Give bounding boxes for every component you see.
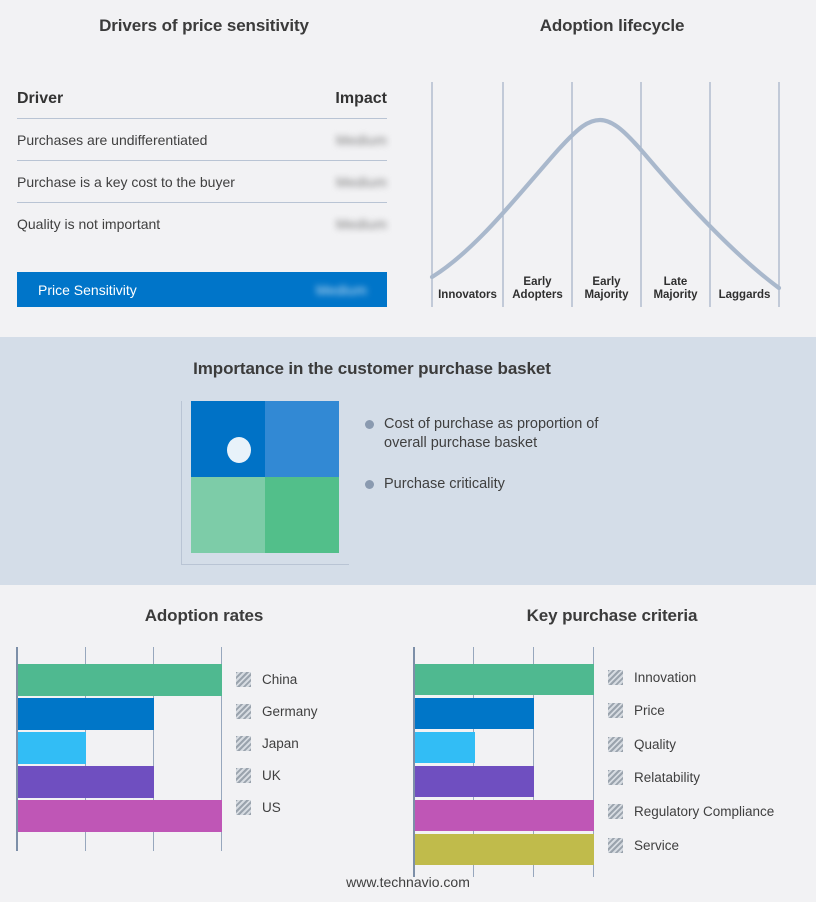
swatch-icon [236,800,251,815]
drivers-title: Drivers of price sensitivity [0,16,408,36]
legend-item-germany[interactable]: Germany [236,704,318,719]
bar-uk[interactable] [18,766,154,798]
drivers-table: Driver Impact Purchases are undifferenti… [17,90,387,244]
segment-label-innovators: Innovators [432,289,503,302]
quadrant-bottom-right[interactable] [265,477,339,553]
column-header-impact: Impact [335,90,387,108]
adoption-rates-plot [16,647,222,851]
legend-label: Relatability [634,770,700,785]
legend-label: Regulatory Compliance [634,804,774,819]
swatch-icon [608,838,623,853]
legend-label: Purchase criticality [384,475,505,494]
lifecycle-gridlines [432,82,779,307]
quadrant-matrix [181,401,349,565]
legend-label: Innovation [634,670,696,685]
data-point-marker[interactable] [227,437,251,463]
price-sensitivity-highlight-row[interactable]: Price Sensitivity Medium [17,272,387,307]
column-header-driver: Driver [17,90,63,108]
legend-label: Cost of purchase as proportion of overal… [384,415,642,453]
quadrant-bottom-left[interactable] [191,477,265,553]
impact-value: Medium [336,174,387,190]
quadrant-cells [191,401,339,553]
swatch-icon [608,670,623,685]
segment-label-laggards: Laggards [710,289,779,302]
legend-item[interactable]: Purchase criticality [365,475,695,494]
key-purchase-criteria-title: Key purchase criteria [408,606,816,626]
bullet-icon [365,480,374,489]
legend-item-uk[interactable]: UK [236,768,281,783]
quadrant-y-axis [181,401,182,565]
segment-label-early-adopters: Early Adopters [503,276,572,302]
key-purchase-criteria-panel: Key purchase criteria Innovation [408,585,816,902]
legend-label: China [262,672,297,687]
importance-title: Importance in the customer purchase bask… [0,359,744,379]
drivers-panel: Drivers of price sensitivity Driver Impa… [0,0,408,337]
bar-row[interactable] [415,698,594,729]
bar-quality[interactable] [415,732,475,763]
bar-germany[interactable] [18,698,154,730]
bar-china[interactable] [18,664,222,696]
table-row[interactable]: Purchase is a key cost to the buyer Medi… [17,161,387,202]
adoption-rates-legend: China Germany Japan UK US [236,647,396,851]
quadrant-top-left[interactable] [191,401,265,477]
swatch-icon [236,704,251,719]
legend-item-price[interactable]: Price [608,703,665,718]
table-row[interactable]: Quality is not important Medium [17,203,387,244]
swatch-icon [608,703,623,718]
swatch-icon [236,768,251,783]
swatch-icon [236,672,251,687]
legend-item-relatability[interactable]: Relatability [608,770,700,785]
adoption-rates-panel: Adoption rates China Germany [0,585,408,902]
key-criteria-plot [413,647,595,877]
bar-regulatory-compliance[interactable] [415,800,594,831]
bar-row[interactable] [18,732,222,764]
bar-row[interactable] [415,732,594,763]
legend-label: Quality [634,737,676,752]
impact-value: Medium [336,132,387,148]
bar-row[interactable] [415,664,594,695]
bar-relatability[interactable] [415,766,534,797]
importance-panel: Importance in the customer purchase bask… [0,337,816,585]
legend-item-regulatory-compliance[interactable]: Regulatory Compliance [608,804,774,819]
legend-item-quality[interactable]: Quality [608,737,676,752]
importance-legend: Cost of purchase as proportion of overal… [365,415,695,516]
bar-row[interactable] [415,766,594,797]
bar-us[interactable] [18,800,222,832]
legend-item-japan[interactable]: Japan [236,736,299,751]
bar-row[interactable] [18,766,222,798]
legend-label: UK [262,768,281,783]
impact-value: Medium [336,216,387,232]
table-header: Driver Impact [17,90,387,118]
adoption-lifecycle-panel: Adoption lifecycle Innovators Early Adop… [408,0,816,337]
legend-label: US [262,800,281,815]
bar-row[interactable] [415,800,594,831]
driver-label: Purchase is a key cost to the buyer [17,174,235,190]
price-sensitivity-label: Price Sensitivity [38,282,137,298]
table-row[interactable]: Purchases are undifferentiated Medium [17,119,387,160]
key-criteria-legend: Innovation Price Quality Relatability Re… [608,647,808,877]
bar-row[interactable] [415,834,594,865]
quadrant-x-axis [181,564,349,565]
bar-price[interactable] [415,698,534,729]
legend-label: Service [634,838,679,853]
price-sensitivity-impact: Medium [316,282,367,298]
driver-label: Purchases are undifferentiated [17,132,207,148]
bar-service[interactable] [415,834,594,865]
legend-label: Price [634,703,665,718]
swatch-icon [608,737,623,752]
swatch-icon [608,804,623,819]
bar-japan[interactable] [18,732,86,764]
segment-label-early-majority: Early Majority [572,276,641,302]
legend-label: Japan [262,736,299,751]
swatch-icon [236,736,251,751]
legend-item[interactable]: Cost of purchase as proportion of overal… [365,415,695,453]
bullet-icon [365,420,374,429]
swatch-icon [608,770,623,785]
driver-label: Quality is not important [17,216,160,232]
legend-item-service[interactable]: Service [608,838,679,853]
footer-url: www.technavio.com [0,874,816,890]
legend-item-innovation[interactable]: Innovation [608,670,696,685]
bar-row[interactable] [18,698,222,730]
bar-row[interactable] [18,664,222,696]
bar-innovation[interactable] [415,664,594,695]
lifecycle-bell-curve [432,120,779,288]
quadrant-top-right[interactable] [265,401,339,477]
legend-item-china[interactable]: China [236,672,297,687]
legend-item-us[interactable]: US [236,800,281,815]
bar-row[interactable] [18,800,222,832]
legend-label: Germany [262,704,318,719]
segment-label-late-majority: Late Majority [641,276,710,302]
adoption-rates-title: Adoption rates [0,606,408,626]
